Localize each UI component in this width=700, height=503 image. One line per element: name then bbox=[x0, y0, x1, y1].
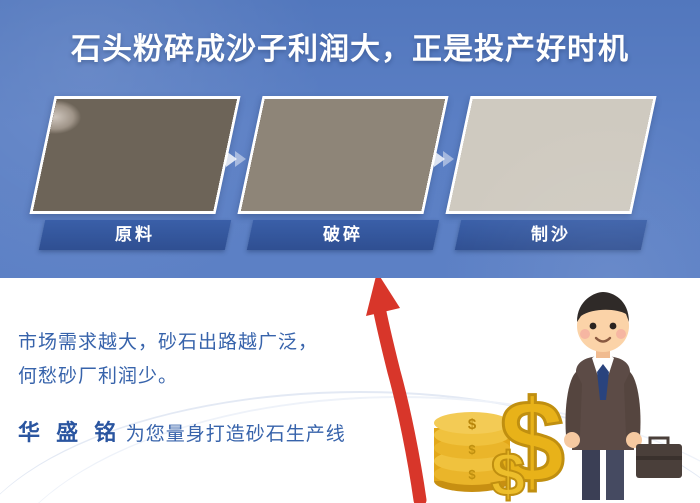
process-label-text-3: 制沙 bbox=[458, 220, 644, 250]
svg-text:$: $ bbox=[491, 441, 525, 503]
svg-text:$: $ bbox=[468, 416, 477, 433]
up-trend-arrow-icon bbox=[362, 278, 436, 500]
process-label-text-1: 原料 bbox=[42, 220, 228, 250]
chevron-right-icon-2 bbox=[430, 148, 456, 170]
bottom-section: 市场需求越大，砂石出路越广泛， 何愁砂厂利润少。 华 盛 铭 为您量身打造砂石生… bbox=[0, 278, 700, 503]
brand-tagline: 为您量身打造砂石生产线 bbox=[126, 424, 346, 445]
sand-photo bbox=[445, 96, 656, 214]
process-cards: 原料 破碎 制沙 bbox=[0, 96, 700, 256]
process-label-raw-material: 原料 bbox=[39, 220, 231, 250]
businessman-icon bbox=[564, 292, 642, 500]
dollar-sign-icon-small: $ bbox=[491, 441, 525, 503]
svg-text:$: $ bbox=[468, 467, 476, 482]
marketing-copy: 市场需求越大，砂石出路越广泛， 何愁砂厂利润少。 bbox=[18, 326, 378, 394]
process-card-raw-material bbox=[29, 96, 240, 214]
poster-image: 石头粉碎成沙子利润大，正是投产好时机 bbox=[0, 0, 700, 503]
page-title: 石头粉碎成沙子利润大，正是投产好时机 bbox=[0, 24, 700, 68]
process-card-crushing bbox=[237, 96, 448, 214]
top-banner: 石头粉碎成沙子利润大，正是投产好时机 bbox=[0, 0, 700, 278]
copy-line-2: 何愁砂厂利润少。 bbox=[18, 360, 378, 394]
copy-line-1: 市场需求越大，砂石出路越广泛， bbox=[18, 326, 378, 360]
process-card-sand-making bbox=[445, 96, 656, 214]
brand-line: 华 盛 铭 为您量身打造砂石生产线 bbox=[18, 415, 346, 447]
chevron-right-icon bbox=[222, 148, 248, 170]
pebbles-photo bbox=[29, 96, 240, 214]
briefcase-icon bbox=[636, 438, 682, 478]
process-label-crushing: 破碎 bbox=[247, 220, 439, 250]
gravel-photo bbox=[237, 96, 448, 214]
process-label-text-2: 破碎 bbox=[250, 220, 436, 250]
illustration-group: $ $ $ $ $ bbox=[360, 278, 700, 503]
brand-name: 华 盛 铭 bbox=[18, 420, 121, 445]
svg-text:$: $ bbox=[468, 442, 476, 457]
process-label-sand-making: 制沙 bbox=[455, 220, 647, 250]
